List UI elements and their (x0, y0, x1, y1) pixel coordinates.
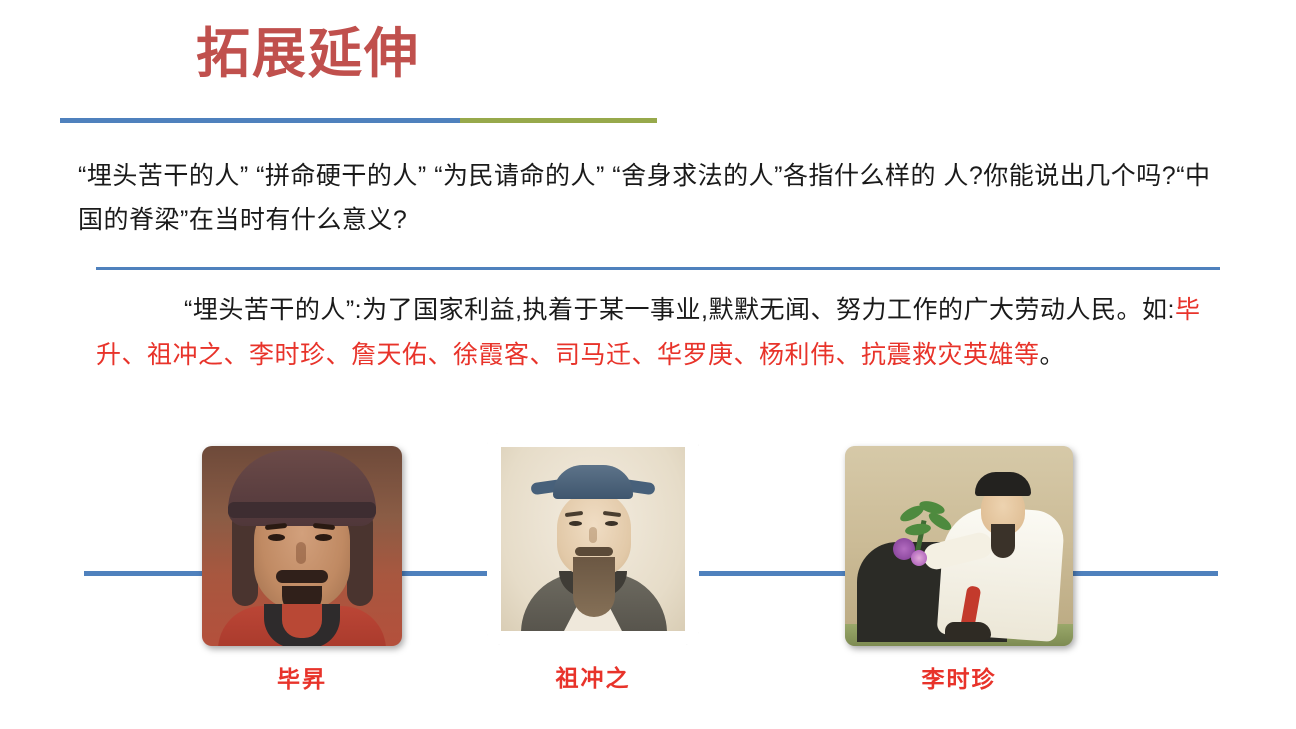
figure-li-shizhen: 李时珍 (845, 446, 1073, 646)
question-paragraph: “埋头苦干的人” “拼命硬干的人” “为民请命的人” “舍身求法的人”各指什么样… (78, 155, 1218, 243)
portrait-zu-chongzhi (501, 447, 685, 631)
page-title: 拓展延伸 (196, 26, 420, 83)
title-underline-blue-segment (60, 118, 460, 123)
title-underline (60, 118, 657, 123)
answer-lead-text: “埋头苦干的人”:为了国家利益,执着于某一事业,默默无闻、努力工作的广大劳动 (184, 296, 1066, 324)
answer-line2-prefix: 人民。如: (1066, 296, 1175, 324)
portrait-bi-sheng (202, 446, 402, 646)
answer-paragraph: “埋头苦干的人”:为了国家利益,执着于某一事业,默默无闻、努力工作的广大劳动人民… (96, 288, 1220, 377)
answer-tail: 。 (1040, 341, 1066, 369)
question-line-1: “埋头苦干的人” “拼命硬干的人” “为民请命的人” “舍身求法的人”各指什么样… (78, 162, 936, 190)
caption-zu-chongzhi: 祖冲之 (487, 659, 699, 693)
section-divider (96, 267, 1220, 270)
title-underline-olive-segment (460, 118, 657, 123)
answer-highlight-names-2: 救灾英雄等 (912, 341, 1040, 369)
torn-paper-frame (487, 433, 699, 645)
caption-li-shizhen: 李时珍 (845, 660, 1073, 694)
portrait-li-shizhen (845, 446, 1073, 646)
figure-zu-chongzhi: 祖冲之 (487, 433, 699, 645)
figure-bi-sheng: 毕昇 (202, 446, 402, 646)
caption-bi-sheng: 毕昇 (202, 660, 402, 694)
